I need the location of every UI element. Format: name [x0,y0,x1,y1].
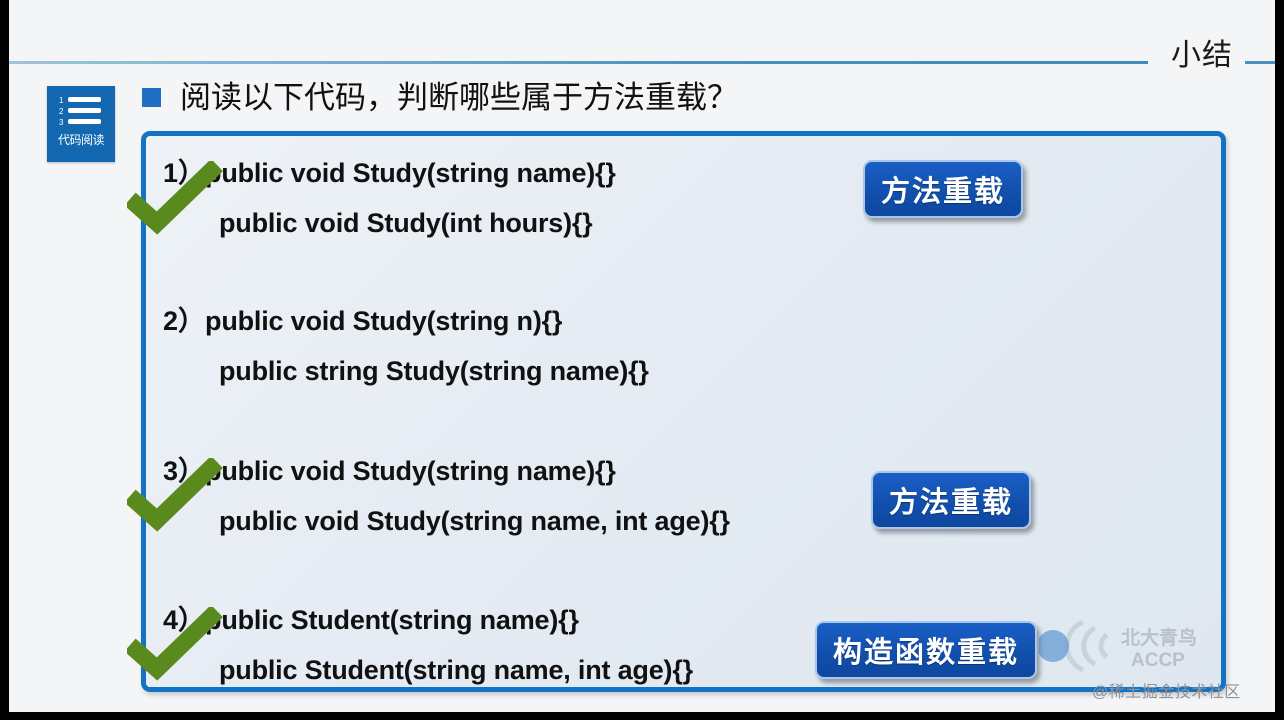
accp-logo-icon: 北大青鸟 ACCP [1039,618,1239,674]
svg-text:北大青鸟: 北大青鸟 [1121,626,1197,649]
code-entry-1-number: 1） [163,158,205,188]
code-entry-3: 3）public void Study(string name){} publi… [163,446,730,546]
code-entry-1-line2: public void Study(int hours){} [219,208,593,238]
answer-tag-3: 构造函数重载 [815,621,1037,679]
page-title: 小结 [1164,38,1240,74]
letterbox-bottom [0,712,1284,720]
code-entry-3-number: 3） [163,456,205,486]
code-entry-3-line2: public void Study(string name, int age){… [219,506,730,536]
code-entry-2-number: 2） [163,306,205,336]
answer-tag-1: 方法重载 [863,160,1023,218]
code-reading-badge: 1 2 3 代码阅读 [47,86,115,162]
slide-canvas: 小结 1 2 3 代码阅读 阅读以下代码，判断哪些属于方法重载？ 1）publi… [9,0,1275,712]
numbered-list-icon: 1 2 3 [59,95,103,129]
code-reading-badge-label: 代码阅读 [58,131,104,148]
svg-text:1: 1 [59,96,64,105]
code-entry-2-line2: public string Study(string name){} [219,356,649,386]
code-entry-4-line1: public Student(string name){} [205,605,579,635]
code-entry-1: 1）public void Study(string name){} publi… [163,148,616,248]
watermark-text: @稀土掘金技术社区 [1092,678,1241,702]
header-rule-right [1245,61,1275,64]
code-entry-3-line1: public void Study(string name){} [205,456,616,486]
code-entry-4: 4）public Student(string name){} public S… [163,595,693,695]
answer-tag-2: 方法重载 [871,471,1031,529]
code-entry-1-line1: public void Study(string name){} [205,158,616,188]
question-text: 阅读以下代码，判断哪些属于方法重载？ [180,78,738,118]
svg-text:2: 2 [59,107,64,116]
code-entry-4-number: 4） [163,605,205,635]
square-bullet-icon [142,88,161,107]
header-rule-left [9,61,1148,64]
code-entry-4-line2: public Student(string name, int age){} [219,655,693,685]
code-entry-2-line1: public void Study(string n){} [205,306,562,336]
code-entry-2: 2）public void Study(string n){} public s… [163,296,649,396]
svg-text:ACCP: ACCP [1131,650,1185,671]
svg-text:3: 3 [59,118,64,127]
